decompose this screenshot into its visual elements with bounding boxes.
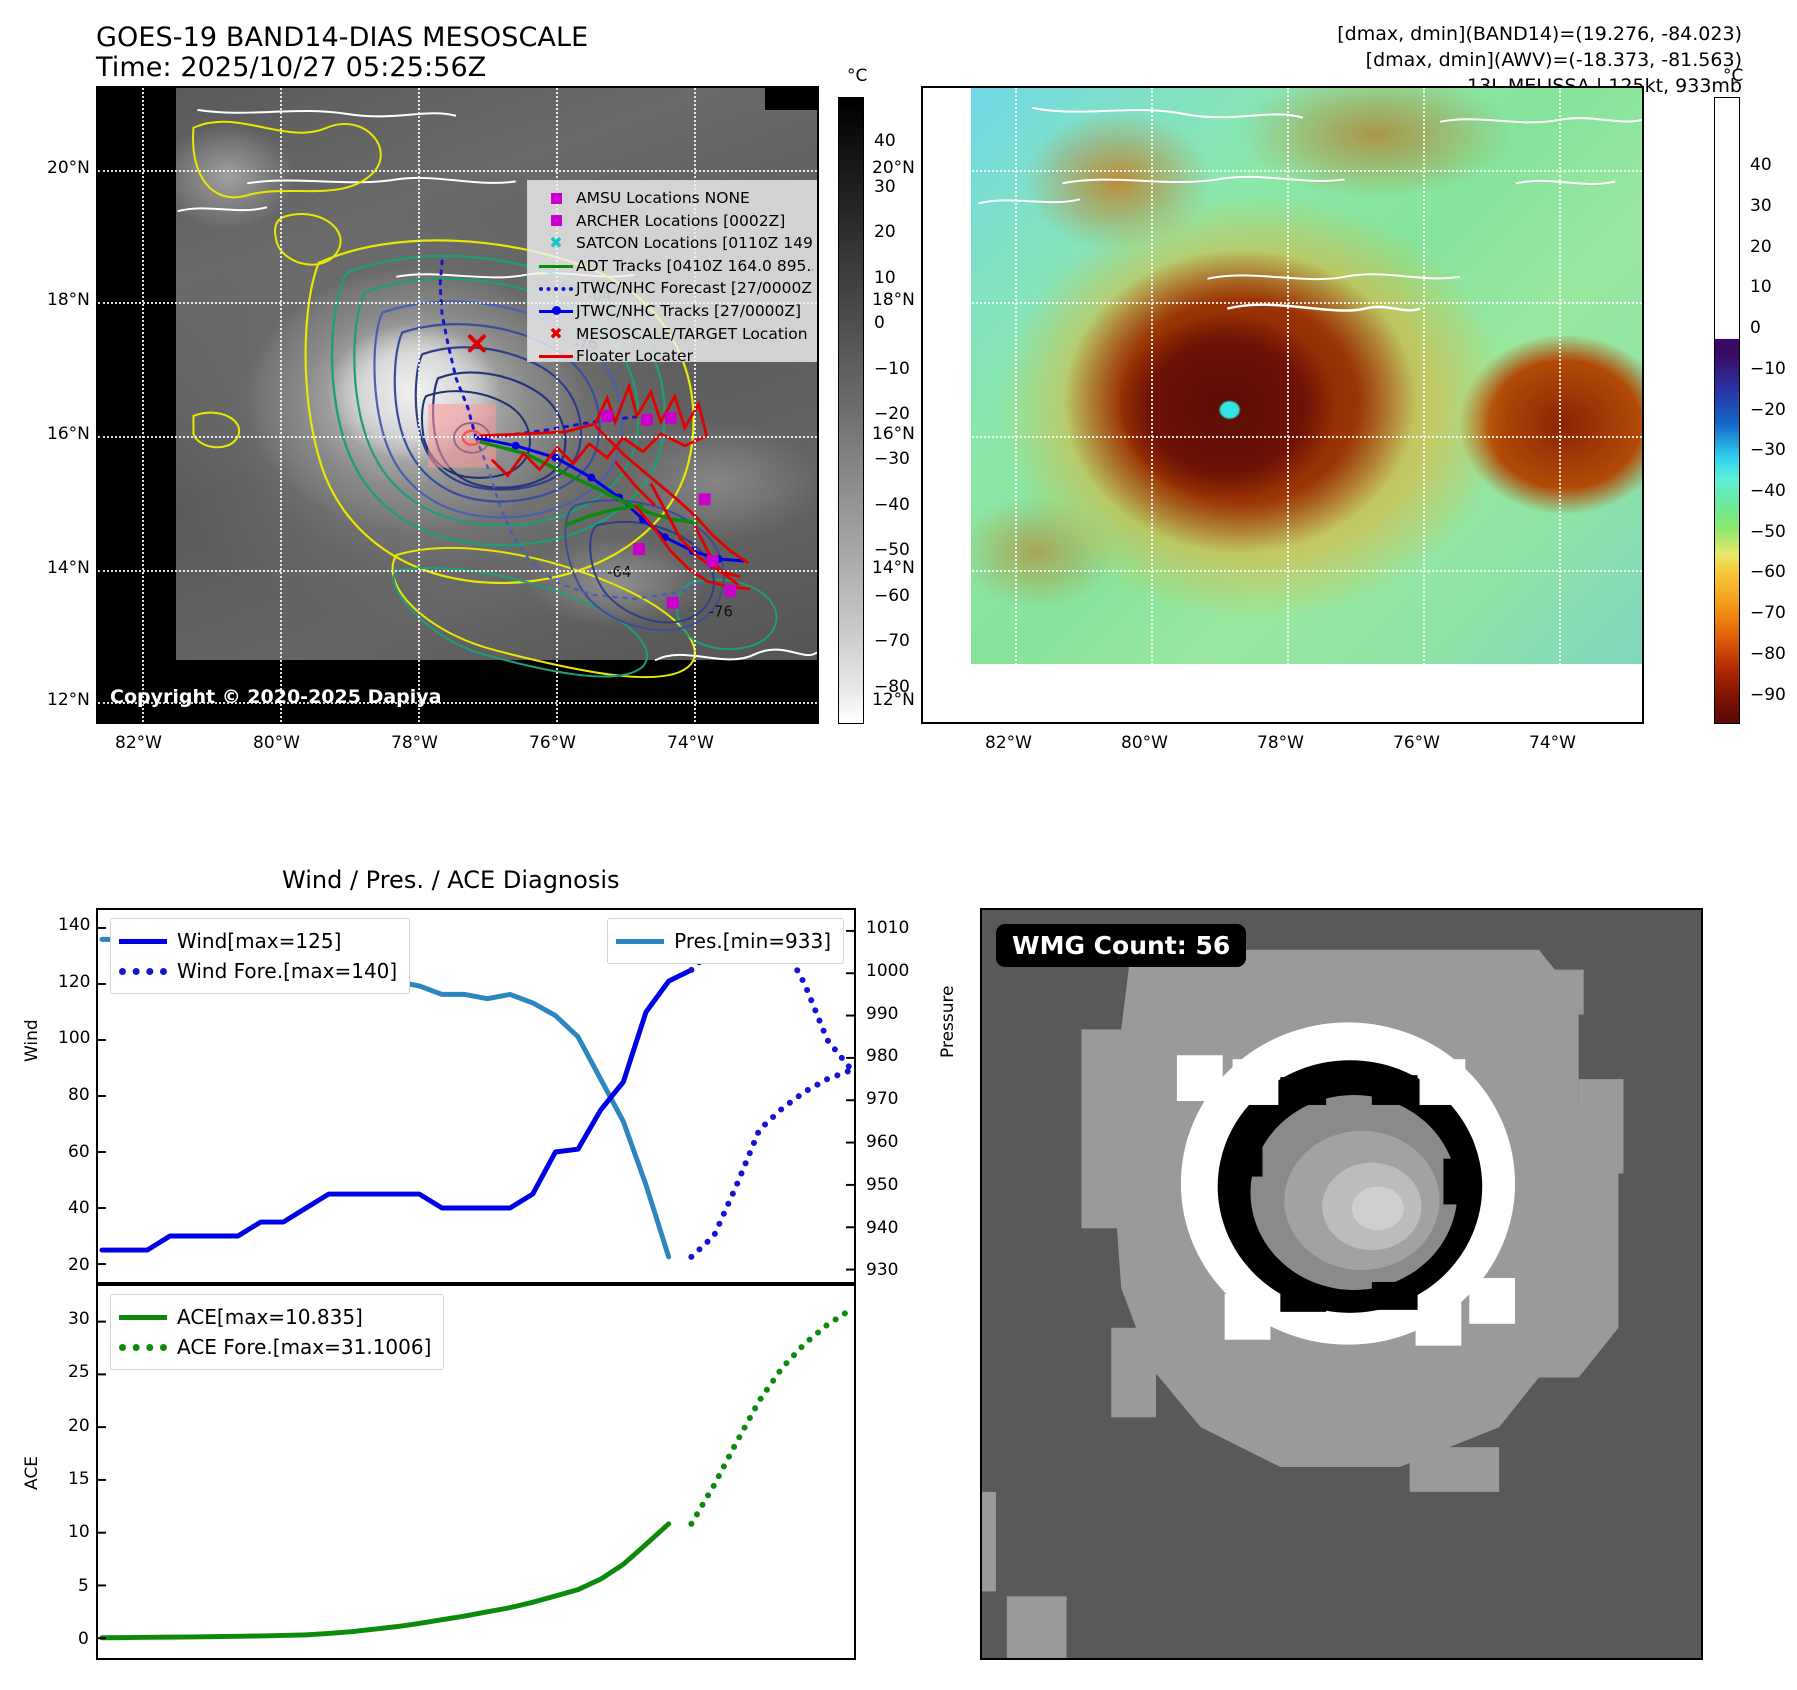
ir-gridline-14n	[98, 570, 817, 572]
pressure-tick: 980	[866, 1046, 898, 1066]
wv-colorbar-tick: −80	[1750, 644, 1786, 664]
ir-legend[interactable]: AMSU Locations NONE ARCHER Locations [00…	[527, 180, 819, 362]
ir-lon-label-82w: 82°W	[115, 733, 162, 753]
ir-lat-label-20n: 20°N	[47, 158, 90, 178]
square-marker-icon	[536, 193, 576, 204]
solid-line-icon	[536, 265, 576, 268]
ir-gridline-82w	[142, 88, 144, 722]
legend-label: SATCON Locations [0110Z 149 926]	[576, 232, 813, 255]
solid-line-icon	[616, 939, 674, 944]
wv-colorbar-tick: −10	[1750, 359, 1786, 379]
wv-lon-label-76w: 76°W	[1393, 733, 1440, 753]
wv-lat-label-18n: 18°N	[872, 290, 915, 310]
ir-gridline-78w	[418, 88, 420, 722]
ace-tick: 30	[68, 1309, 90, 1329]
wind-tick: 60	[68, 1142, 90, 1162]
legend-item-adt-tracks[interactable]: ADT Tracks [0410Z 164.0 895.5]	[536, 255, 813, 278]
wv-colorbar-tick: −90	[1750, 685, 1786, 705]
pressure-axis-label: Pressure	[938, 985, 958, 1058]
pressure-tick: 970	[866, 1089, 898, 1109]
ir-colorbar-tick: −30	[874, 449, 910, 469]
wv-colorbar-tick: 0	[1750, 318, 1761, 338]
wv-gridline-76w	[1423, 88, 1425, 668]
square-marker-icon	[536, 215, 576, 226]
ir-gridline-80w	[280, 88, 282, 722]
ace-tick: 25	[68, 1362, 90, 1382]
page-title-line2: Time: 2025/10/27 05:25:56Z	[96, 52, 486, 83]
ir-lat-label-14n: 14°N	[47, 558, 90, 578]
legend-label: Wind[max=125]	[177, 926, 341, 956]
line-with-point-icon	[536, 310, 576, 313]
ir-colorbar-tick: −60	[874, 586, 910, 606]
ir-colorbar-tick: −70	[874, 631, 910, 651]
wv-gridline-74w	[1559, 88, 1561, 668]
legend-item-ace[interactable]: ACE[max=10.835]	[119, 1302, 431, 1332]
wv-colorbar-tick: 30	[1750, 196, 1772, 216]
solid-line-icon	[119, 1315, 177, 1320]
wv-colorbar-tick: −20	[1750, 400, 1786, 420]
wind-legend[interactable]: Wind[max=125] Wind Fore.[max=140]	[110, 918, 410, 994]
legend-label: MESOSCALE/TARGET Location	[576, 323, 808, 346]
dotted-line-icon	[119, 968, 177, 975]
ace-tick: 20	[68, 1416, 90, 1436]
wv-colorbar-tick: 10	[1750, 277, 1772, 297]
wv-satellite-panel[interactable]	[921, 86, 1644, 724]
pressure-legend[interactable]: Pres.[min=933]	[607, 918, 844, 964]
pressure-tick: 940	[866, 1218, 898, 1238]
dashboard-root: GOES-19 BAND14-DIAS MESOSCALE Time: 2025…	[0, 0, 1797, 1690]
ir-colorbar-tick: 20	[874, 222, 896, 242]
wv-colorbar-tick: −50	[1750, 522, 1786, 542]
solid-line-icon	[119, 939, 177, 944]
wv-colorbar	[1714, 97, 1740, 724]
svg-text:-76: -76	[709, 603, 733, 621]
pressure-tick: 930	[866, 1260, 898, 1280]
wv-coastlines	[923, 88, 1642, 722]
wind-tick: 100	[58, 1028, 90, 1048]
ir-colorbar-tick: 10	[874, 268, 896, 288]
legend-item-jtwc-forecast[interactable]: JTWC/NHC Forecast [27/0000Z]	[536, 277, 813, 300]
ir-lat-label-16n: 16°N	[47, 424, 90, 444]
wv-gridline-82w	[1015, 88, 1017, 668]
wind-pressure-chart[interactable]: Wind[max=125] Wind Fore.[max=140] Pres.[…	[96, 908, 856, 1284]
ir-colorbar-tick: −20	[874, 404, 910, 424]
dmax-dmin-awv: [dmax, dmin](AWV)=(-18.373, -81.563)	[1366, 47, 1742, 73]
wind-axis-label: Wind	[22, 1019, 42, 1062]
ace-tick: 15	[68, 1469, 90, 1489]
legend-item-wind-forecast[interactable]: Wind Fore.[max=140]	[119, 956, 397, 986]
ace-axis-label: ACE	[22, 1456, 42, 1490]
legend-item-floater-locater[interactable]: Floater Locater	[536, 345, 813, 368]
wv-lat-label-16n: 16°N	[872, 424, 915, 444]
wv-colorbar-tick: 40	[1750, 155, 1772, 175]
pressure-tick: 1000	[866, 961, 909, 981]
ir-colorbar-tick: 40	[874, 131, 896, 151]
wmg-imagery	[982, 910, 1701, 1658]
wv-lat-label-12n: 12°N	[872, 690, 915, 710]
legend-label: Pres.[min=933]	[674, 926, 831, 956]
wv-colorbar-tick: −60	[1750, 562, 1786, 582]
dotted-line-icon	[119, 1344, 177, 1351]
legend-label: ARCHER Locations [0002Z]	[576, 210, 785, 233]
ace-tick: 5	[78, 1576, 89, 1596]
wv-gridline-20n	[969, 170, 1642, 172]
legend-label: Floater Locater	[576, 345, 693, 368]
legend-label: Wind Fore.[max=140]	[177, 956, 397, 986]
ir-lat-label-18n: 18°N	[47, 290, 90, 310]
wind-tick: 40	[68, 1198, 90, 1218]
legend-item-wind[interactable]: Wind[max=125]	[119, 926, 397, 956]
wv-colorbar-tick: −70	[1750, 603, 1786, 623]
wv-lon-label-78w: 78°W	[1257, 733, 1304, 753]
legend-item-ace-forecast[interactable]: ACE Fore.[max=31.1006]	[119, 1332, 431, 1362]
ir-lon-label-74w: 74°W	[667, 733, 714, 753]
legend-label: AMSU Locations NONE	[576, 187, 750, 210]
legend-label: ACE Fore.[max=31.1006]	[177, 1332, 431, 1362]
x-marker-icon: ✖	[536, 235, 576, 251]
diagnosis-chart-title: Wind / Pres. / ACE Diagnosis	[282, 866, 620, 894]
wv-colorbar-title: °C	[1723, 66, 1743, 86]
ir-colorbar-title: °C	[847, 66, 867, 86]
wv-gridline-18n	[969, 302, 1642, 304]
legend-label: JTWC/NHC Tracks [27/0000Z]	[576, 300, 801, 323]
legend-item-pressure[interactable]: Pres.[min=933]	[616, 926, 831, 956]
dotted-line-icon	[536, 287, 576, 291]
ir-gridline-16n	[98, 436, 817, 438]
wv-colorbar-tick: 20	[1750, 237, 1772, 257]
wv-lat-label-14n: 14°N	[872, 558, 915, 578]
ir-lon-label-76w: 76°W	[529, 733, 576, 753]
wind-tick: 120	[58, 972, 90, 992]
wmg-count-badge: WMG Count: 56	[996, 924, 1246, 967]
legend-label: ACE[max=10.835]	[177, 1302, 363, 1332]
ir-gridline-20n	[98, 170, 817, 172]
ir-lon-label-80w: 80°W	[253, 733, 300, 753]
legend-item-archer[interactable]: ARCHER Locations [0002Z]	[536, 210, 813, 233]
wmg-panel[interactable]: WMG Count: 56	[980, 908, 1703, 1660]
legend-label: ADT Tracks [0410Z 164.0 895.5]	[576, 255, 813, 278]
pressure-tick: 960	[866, 1132, 898, 1152]
ir-lat-label-12n: 12°N	[47, 690, 90, 710]
ir-colorbar-tick: −10	[874, 359, 910, 379]
ace-tick: 0	[78, 1629, 89, 1649]
wv-lon-label-82w: 82°W	[985, 733, 1032, 753]
pressure-tick: 990	[866, 1004, 898, 1024]
wv-gridline-14n	[969, 570, 1642, 572]
legend-item-satcon[interactable]: ✖ SATCON Locations [0110Z 149 926]	[536, 232, 813, 255]
wv-gridline-78w	[1287, 88, 1289, 668]
wv-gridline-80w	[1151, 88, 1153, 668]
ace-legend[interactable]: ACE[max=10.835] ACE Fore.[max=31.1006]	[110, 1294, 444, 1370]
legend-item-mesoscale-target[interactable]: ✖ MESOSCALE/TARGET Location	[536, 323, 813, 346]
ir-colorbar	[838, 97, 864, 724]
ir-colorbar-tick: 0	[874, 313, 885, 333]
wv-lon-label-80w: 80°W	[1121, 733, 1168, 753]
ir-lon-label-78w: 78°W	[391, 733, 438, 753]
pressure-tick: 1010	[866, 918, 909, 938]
copyright-notice: Copyright © 2020-2025 Dapiya	[110, 686, 441, 708]
page-title-line1: GOES-19 BAND14-DIAS MESOSCALE	[96, 22, 588, 53]
ace-tick: 10	[68, 1522, 90, 1542]
legend-item-amsu[interactable]: AMSU Locations NONE	[536, 187, 813, 210]
x-marker-icon: ✖	[536, 326, 576, 342]
wind-tick: 140	[58, 915, 90, 935]
wind-tick: 80	[68, 1085, 90, 1105]
wv-lat-label-20n: 20°N	[872, 158, 915, 178]
dmax-dmin-band14: [dmax, dmin](BAND14)=(19.276, -84.023)	[1337, 21, 1742, 47]
wv-colorbar-tick: −40	[1750, 481, 1786, 501]
wv-lon-label-74w: 74°W	[1529, 733, 1576, 753]
wv-gridline-16n	[969, 436, 1642, 438]
pressure-tick: 950	[866, 1175, 898, 1195]
ace-chart[interactable]: ACE[max=10.835] ACE Fore.[max=31.1006]	[96, 1284, 856, 1660]
wind-tick: 20	[68, 1255, 90, 1275]
ir-colorbar-tick: −40	[874, 495, 910, 515]
ir-satellite-panel[interactable]: -64 -76 -64 -76 Copyright © 2020-2025 Da…	[96, 86, 819, 724]
wv-colorbar-tick: −30	[1750, 440, 1786, 460]
ir-colorbar-tick: 30	[874, 177, 896, 197]
legend-item-jtwc-tracks[interactable]: JTWC/NHC Tracks [27/0000Z]	[536, 300, 813, 323]
legend-label: JTWC/NHC Forecast [27/0000Z]	[576, 277, 813, 300]
solid-line-icon	[536, 355, 576, 358]
